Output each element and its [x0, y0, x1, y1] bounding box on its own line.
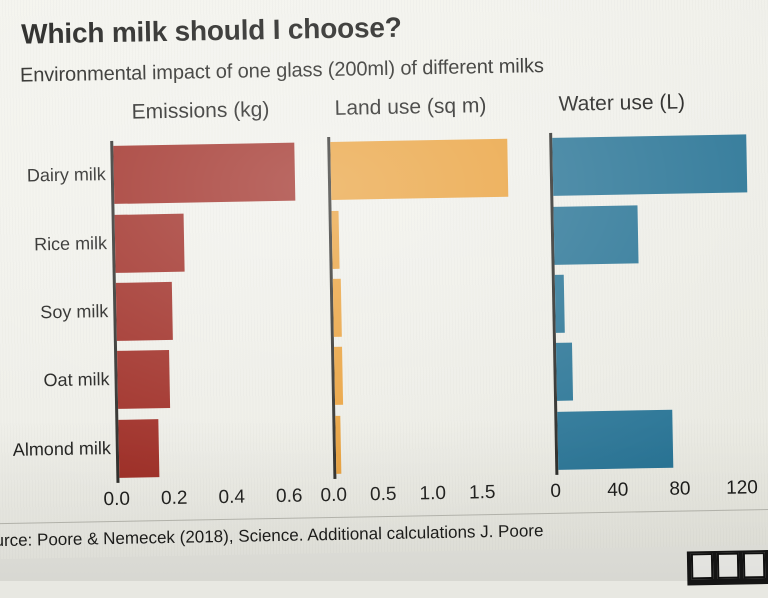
page-subtitle: Environmental impact of one glass (200ml… [20, 55, 544, 88]
logo-block [691, 553, 713, 579]
plot-area-emissions [110, 137, 323, 483]
bar [113, 143, 295, 204]
x-tick-label: 0.0 [103, 489, 130, 511]
bar [552, 135, 747, 197]
x-tick-label: 80 [669, 478, 691, 500]
plot-area-land-use [327, 133, 536, 479]
x-tick-label: 0.0 [320, 485, 347, 507]
panel-water-use: Water use (L) 04080120 [548, 89, 756, 93]
bar [553, 205, 638, 265]
bar [555, 275, 565, 333]
footer-divider [0, 509, 768, 524]
x-tick-label: 0.5 [370, 484, 397, 506]
x-axis-land-use: 0.00.51.01.5 [334, 481, 537, 511]
bbc-logo [691, 552, 765, 579]
category-label: Almond milk [13, 438, 111, 461]
page-title: Which milk should I choose? [21, 12, 402, 51]
x-tick-label: 1.0 [419, 483, 446, 505]
x-tick-label: 40 [607, 480, 629, 502]
category-label: Rice milk [34, 233, 107, 255]
panel-title-water-use: Water use (L) [558, 90, 685, 116]
bar [330, 139, 508, 200]
bar [333, 279, 342, 337]
source-note: urce: Poore & Nemecek (2018), Science. A… [0, 521, 544, 551]
x-tick-label: 0.6 [276, 486, 303, 508]
panel-land-use: Land use (sq m) 0.00.51.01.5 [326, 93, 532, 97]
logo-block [717, 553, 739, 579]
x-tick-label: 0.4 [218, 487, 245, 509]
bar [557, 410, 673, 470]
logo-block [743, 552, 765, 578]
x-axis-emissions: 0.00.20.40.6 [117, 485, 324, 515]
category-axis-labels: Dairy milkRice milkSoy milkOat milkAlmon… [0, 141, 105, 143]
bar [117, 350, 170, 409]
bar [115, 213, 185, 272]
plot-area-water-use [549, 129, 760, 475]
bar [332, 210, 340, 268]
x-axis-water-use: 04080120 [556, 477, 761, 507]
bar [556, 343, 573, 401]
panel-emissions: Emissions (kg) 0.00.20.40.6 [109, 97, 319, 101]
panel-title-emissions: Emissions (kg) [131, 98, 269, 125]
bar [335, 416, 341, 474]
bar [118, 419, 159, 478]
category-label: Dairy milk [27, 164, 106, 186]
x-tick-label: 1.5 [469, 482, 496, 504]
category-label: Soy milk [40, 301, 108, 323]
panel-title-land-use: Land use (sq m) [334, 94, 486, 121]
chart-figure: Which milk should I choose? Environmenta… [0, 0, 768, 588]
x-tick-label: 0 [550, 481, 561, 503]
bar [116, 282, 173, 341]
bar [334, 347, 343, 405]
category-label: Oat milk [43, 369, 109, 391]
x-tick-label: 0.2 [161, 488, 188, 510]
x-tick-label: 120 [726, 477, 758, 500]
